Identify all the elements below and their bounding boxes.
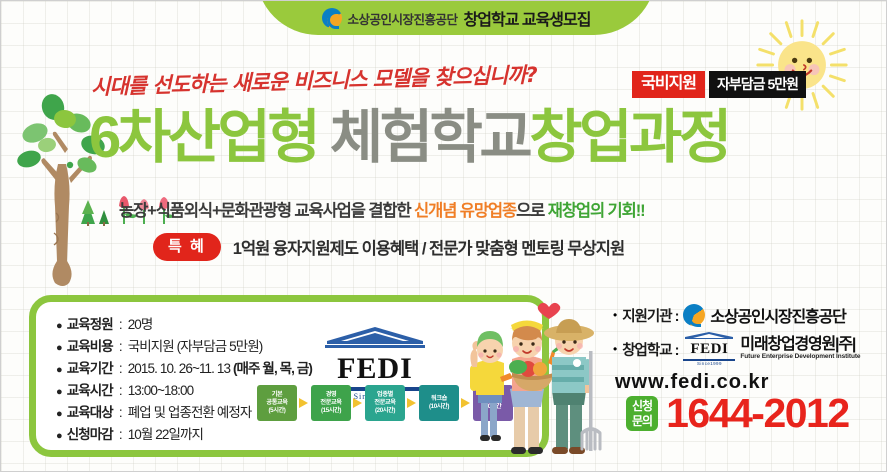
- poster-canvas: 소상공인시장진흥공단 창업학교 교육생모집 시대를 선도하는 새로운 비즈니스 …: [0, 0, 887, 472]
- subtitle-text-1: 농장+식품외식+문화관광형 교육사업을 결합한: [119, 202, 414, 220]
- info-row: ●교육정원:20명: [56, 314, 312, 336]
- bullet-icon: ●: [56, 406, 62, 424]
- flow-step-chip: 경영전문교육(15시간): [311, 385, 351, 421]
- flow-step-line-1: 업종별: [377, 391, 393, 399]
- title-part-1: 6차산업형: [89, 105, 317, 170]
- flow-step-line-3: (5시간): [269, 407, 286, 415]
- subtitle-highlight-orange: 신개념 유망업종: [414, 202, 516, 220]
- school-org-label: 창업학교 :: [622, 339, 678, 360]
- fedi-mini-roof-icon: [683, 332, 735, 340]
- hero-handwriting-line: 시대를 선도하는 새로운 비즈니스 모델을 찾으십니까?: [91, 59, 537, 101]
- flow-step-line-2: 워크숍: [431, 395, 447, 403]
- info-label: 교육대상: [67, 402, 113, 424]
- contact-row: 신청 문의 1644-2012: [626, 393, 849, 434]
- info-label: 교육기간: [67, 358, 113, 380]
- header-org-sub: 소상공인시장진흥공단: [348, 9, 458, 28]
- semas-swirl-icon: [322, 8, 342, 28]
- flow-step-chip: 기본공통교육(5시간): [257, 385, 297, 421]
- info-row: ●교육기간:2015. 10. 26~11. 13 (매주 월, 목, 금): [56, 358, 312, 380]
- fedi-roof-icon: [323, 326, 427, 348]
- fedi-mini-since: Since1999: [683, 361, 735, 366]
- benefit-badge: 특 혜: [153, 233, 221, 261]
- info-label: 신청마감: [67, 424, 113, 446]
- course-info-list: ●교육정원:20명●교육비용:국비지원 (자부담금 5만원)●교육기간:2015…: [56, 314, 312, 446]
- info-value: 10월 22일까지: [128, 424, 203, 446]
- organization-info: • 지원기관 : 소상공인시장진흥공단 • 창업학교 : FEDI Since1…: [613, 303, 860, 394]
- fedi-wordmark: FEDI: [323, 353, 427, 385]
- school-org-name-en: Future Enterprise Development Institute: [740, 354, 860, 361]
- subtitle-highlight-green: 재창업의 기회!!: [548, 202, 645, 220]
- badge-gov-support: 국비지원: [632, 71, 705, 98]
- apply-badge-line2: 문의: [632, 414, 652, 428]
- page-title: 6차산업형 체험학교창업과정: [89, 109, 729, 167]
- flow-step-line-1: 기본: [272, 391, 283, 399]
- contact-phone-number[interactable]: 1644-2012: [666, 393, 849, 434]
- flow-step-chip: 업종별전문교육(20시간): [365, 385, 405, 421]
- flow-step-line-3: (10시간): [429, 403, 449, 411]
- flow-step-line-3: (20시간): [375, 407, 395, 415]
- fedi-mini-wordmark: FEDI: [691, 341, 729, 357]
- top-header-band: 소상공인시장진흥공단 창업학교 교육생모집: [256, 0, 656, 35]
- badge-self-fee: 자부담금 5만원: [709, 71, 806, 98]
- subtitle-text-2: 으로: [516, 202, 548, 220]
- farming-family-illustration: [456, 293, 606, 469]
- flow-arrow-icon: [353, 398, 363, 408]
- semas-logo-icon: [683, 304, 705, 326]
- benefit-text: 1억원 융자지원제도 이용혜택 / 전문가 맞춤형 멘토링 무상지원: [233, 235, 624, 259]
- info-value: 20명: [128, 314, 153, 336]
- school-org-row: • 창업학교 : FEDI Since1999 미래창업경영원|주| Futur…: [613, 332, 860, 366]
- title-part-3: 창업과정: [529, 105, 728, 170]
- flow-step-line-2: 전문교육: [320, 399, 341, 407]
- info-label: 교육시간: [67, 380, 113, 402]
- info-value: 13:00~18:00: [128, 380, 194, 402]
- info-value-emphasis: (매주 월, 목, 금): [233, 361, 312, 376]
- info-value: 국비지원 (자부담금 5만원): [128, 336, 263, 358]
- bullet-icon: ●: [56, 340, 62, 358]
- info-separator: :: [119, 424, 122, 446]
- bullet-icon: ●: [56, 362, 62, 380]
- support-org-row: • 지원기관 : 소상공인시장진흥공단: [613, 303, 860, 327]
- info-separator: :: [119, 314, 122, 336]
- info-value: 2015. 10. 26~11. 13 (매주 월, 목, 금): [128, 358, 312, 380]
- info-separator: :: [119, 336, 122, 358]
- info-separator: :: [119, 380, 122, 402]
- benefit-row: 특 혜 1억원 융자지원제도 이용혜택 / 전문가 맞춤형 멘토링 무상지원: [153, 233, 624, 261]
- flow-step-line-3: (15시간): [321, 407, 341, 415]
- flow-arrow-icon: [299, 398, 309, 408]
- flow-step-line-2: 전문교육: [374, 399, 395, 407]
- header-org-main: 창업학교 교육생모집: [464, 6, 591, 30]
- fedi-mini-logo: FEDI Since1999: [683, 332, 735, 366]
- support-org-name: 소상공인시장진흥공단: [710, 303, 845, 327]
- title-part-2: 체험학교: [330, 105, 529, 170]
- info-separator: :: [119, 358, 122, 380]
- flow-step-line-2: 공통교육: [266, 399, 287, 407]
- hero-subtitle: 농장+식품외식+문화관광형 교육사업을 결합한 신개념 유망업종으로 재창업의 …: [119, 197, 645, 221]
- hero-badge-row: 국비지원 자부담금 5만원: [632, 71, 806, 98]
- school-org-name: 미래창업경영원|주|: [740, 337, 860, 354]
- info-label: 교육비용: [67, 336, 113, 358]
- flow-arrow-icon: [407, 398, 417, 408]
- info-separator: :: [119, 402, 122, 424]
- apply-inquiry-badge: 신청 문의: [626, 396, 658, 430]
- flow-step-line-1: 경영: [326, 391, 337, 399]
- info-row: ●교육비용:국비지원 (자부담금 5만원): [56, 336, 312, 358]
- support-org-label: 지원기관 :: [622, 305, 678, 326]
- flow-step-chip: 워크숍(10시간): [419, 385, 459, 421]
- heart-icon: [538, 303, 561, 319]
- bullet-icon: ●: [56, 384, 62, 402]
- apply-badge-line1: 신청: [632, 399, 652, 413]
- info-label: 교육정원: [67, 314, 113, 336]
- info-value: 폐업 및 업종전환 예정자: [128, 402, 252, 424]
- bullet-icon: ●: [56, 428, 62, 446]
- bullet-icon: ●: [56, 318, 62, 336]
- child-figure: [470, 331, 517, 441]
- info-row: ●신청마감:10월 22일까지: [56, 424, 312, 446]
